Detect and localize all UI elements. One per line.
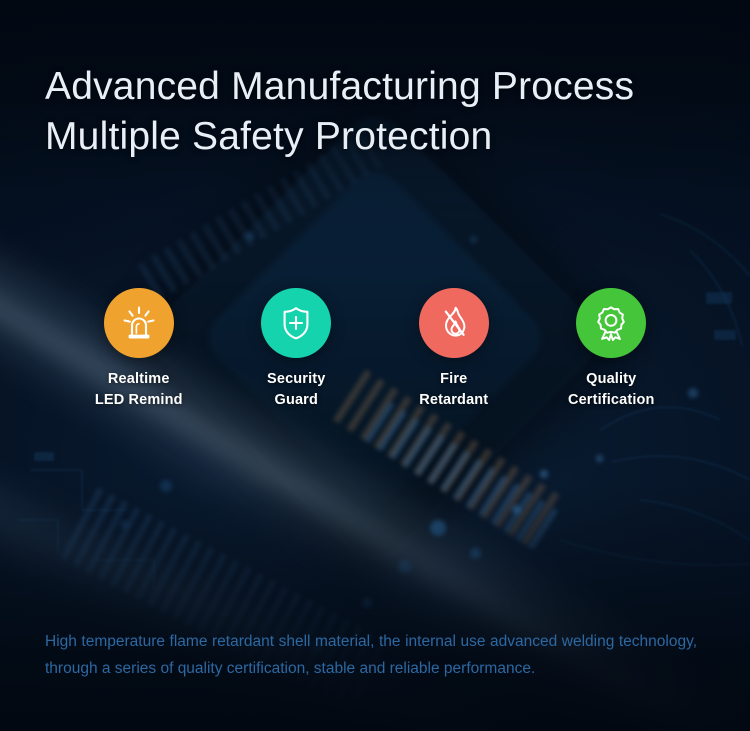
feature-label-security: Security Guard — [267, 369, 325, 410]
no-fire-icon — [434, 303, 474, 343]
headline-line-2: Multiple Safety Protection — [45, 112, 634, 162]
feature-label-realtime: Realtime LED Remind — [95, 369, 183, 410]
feature-item-security-guard: Security Guard — [218, 288, 376, 410]
feature-label-quality: Quality Certification — [568, 369, 655, 410]
siren-light-icon — [119, 303, 159, 343]
feature-item-realtime-led-remind: Realtime LED Remind — [60, 288, 218, 410]
feature-list: Realtime LED Remind Security Guard — [60, 288, 690, 410]
shield-plus-icon — [276, 303, 316, 343]
product-feature-banner: Advanced Manufacturing ProcessMultiple S… — [0, 0, 750, 731]
feature-badge-security — [261, 288, 331, 358]
feature-badge-fire — [419, 288, 489, 358]
feature-badge-realtime — [104, 288, 174, 358]
feature-item-fire-retardant: Fire Retardant — [375, 288, 533, 410]
page-title: Advanced Manufacturing ProcessMultiple S… — [45, 62, 634, 163]
feature-label-fire: Fire Retardant — [419, 369, 488, 410]
feature-badge-quality — [576, 288, 646, 358]
feature-item-quality-certification: Quality Certification — [533, 288, 691, 410]
headline-line-1: Advanced Manufacturing Process — [45, 65, 634, 108]
award-rosette-icon — [591, 303, 631, 343]
description-text: High temperature flame retardant shell m… — [45, 629, 697, 682]
